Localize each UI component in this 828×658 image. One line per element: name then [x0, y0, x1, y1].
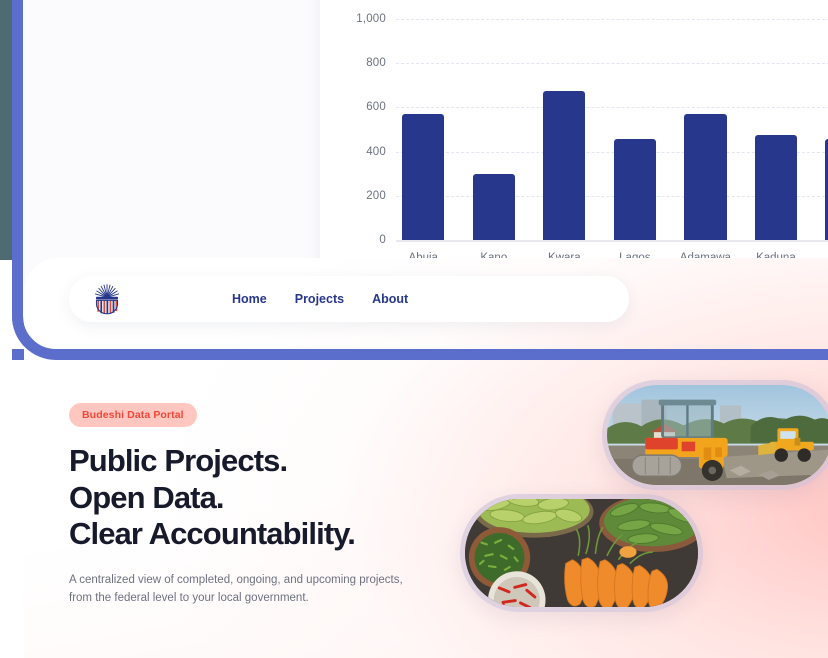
hero-subheadline: A centralized view of completed, ongoing…: [69, 572, 469, 608]
chart-bar[interactable]: [402, 114, 444, 240]
produce-photo: [460, 494, 703, 612]
roadworks-photo: [602, 380, 828, 490]
hero-headline: Public Projects. Open Data. Clear Accoun…: [69, 443, 469, 553]
chart-y-tick-label: 800: [366, 57, 386, 69]
chart-y-tick-label: 400: [366, 146, 386, 158]
site-navbar: Home Projects About: [69, 276, 629, 322]
hero-headline-line-3: Clear Accountability.: [69, 516, 469, 553]
hero-subheadline-line-2: from the federal level to your local gov…: [69, 590, 469, 608]
nav-link-about[interactable]: About: [372, 292, 408, 306]
site-nav-links: Home Projects About: [232, 292, 408, 306]
hero-subheadline-line-1: A centralized view of completed, ongoing…: [69, 572, 469, 590]
chart-y-tick-label: 0: [379, 234, 386, 246]
budeshi-crest-logo-icon: [90, 282, 124, 316]
bar-chart: 02004006008001,000 AbujaKanoKwaraLagosAd…: [320, 0, 828, 280]
chart-y-tick-label: 1,000: [356, 13, 386, 25]
hero-copy-block: Budeshi Data Portal Public Projects. Ope…: [69, 403, 469, 607]
chart-y-axis: 02004006008001,000: [344, 0, 386, 280]
hero-headline-line-1: Public Projects.: [69, 443, 469, 480]
nav-link-home[interactable]: Home: [232, 292, 267, 306]
hero-badge: Budeshi Data Portal: [69, 403, 197, 427]
produce-photo-graphic: [465, 499, 698, 607]
chart-bar[interactable]: [543, 91, 585, 240]
chart-bar[interactable]: [614, 139, 656, 240]
chart-bar[interactable]: [684, 114, 726, 240]
website-hero-section: Home Projects About Budeshi Data Portal …: [24, 258, 828, 658]
roadworks-photo-graphic: [607, 385, 828, 485]
chart-card: 02004006008001,000 AbujaKanoKwaraLagosAd…: [320, 0, 828, 280]
hero-headline-line-2: Open Data.: [69, 480, 469, 517]
chart-y-tick-label: 600: [366, 101, 386, 113]
chart-y-tick-label: 200: [366, 190, 386, 202]
nav-link-projects[interactable]: Projects: [295, 292, 344, 306]
chart-bars: AbujaKanoKwaraLagosAdamawaKadunaBorno: [396, 0, 828, 280]
chart-bar[interactable]: [473, 174, 515, 240]
chart-bar[interactable]: [755, 135, 797, 240]
